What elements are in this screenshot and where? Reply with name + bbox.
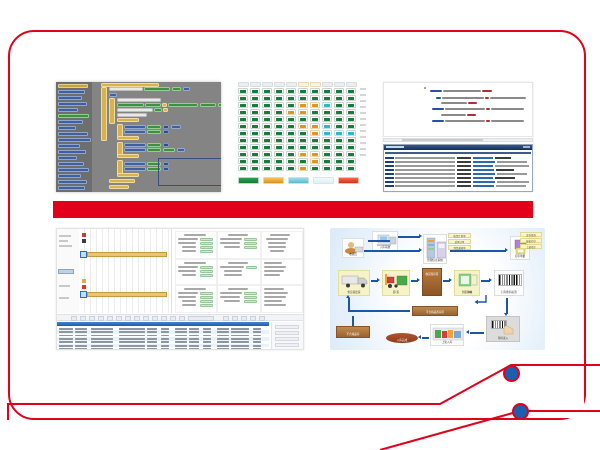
status-grid-cells[interactable] — [238, 88, 366, 172]
status-cell[interactable] — [238, 144, 248, 150]
status-cell[interactable] — [346, 151, 356, 157]
status-cell[interactable] — [310, 165, 320, 171]
flow-node-unload[interactable]: 卸 货 — [382, 270, 410, 296]
flow-node-return-supplier[interactable]: 不合格品库 — [336, 326, 370, 338]
flow-arrow — [398, 236, 420, 238]
flow-node-label: 打印条码标签 — [495, 292, 523, 295]
status-cell[interactable] — [250, 158, 260, 164]
status-cell[interactable] — [286, 165, 296, 171]
panel-status-grid[interactable] — [238, 82, 366, 192]
toolbar-button[interactable] — [89, 316, 95, 321]
block-logic[interactable] — [147, 125, 161, 129]
status-cell[interactable] — [334, 109, 344, 115]
blocks-palette[interactable] — [56, 82, 93, 192]
block-variable[interactable] — [124, 143, 146, 147]
status-cell[interactable] — [334, 88, 344, 94]
status-cell[interactable] — [250, 130, 260, 136]
flow-decision-ng — [470, 294, 490, 308]
panel-blocks-editor[interactable] — [56, 82, 221, 192]
toolbar-button[interactable] — [134, 316, 140, 321]
status-cell[interactable] — [286, 137, 296, 143]
status-cell[interactable] — [310, 151, 320, 157]
status-cell-bar — [276, 97, 282, 100]
code-text-area[interactable] — [383, 82, 533, 137]
status-cell[interactable] — [274, 88, 284, 94]
status-cell[interactable] — [274, 144, 284, 150]
palette-chip[interactable] — [58, 84, 88, 88]
status-cell[interactable] — [238, 158, 248, 164]
legend-item-alarm — [338, 177, 359, 184]
toolbar-button[interactable] — [107, 316, 113, 321]
gantt-bar[interactable] — [87, 292, 167, 297]
status-cell[interactable] — [298, 137, 308, 143]
block-control[interactable] — [163, 108, 168, 112]
toolbar-search-field[interactable] — [188, 316, 214, 321]
status-cell-bar — [288, 153, 294, 156]
code-horizontal-scrollbar[interactable] — [383, 138, 533, 142]
table-cell — [175, 345, 187, 347]
palette-chip[interactable] — [58, 138, 91, 142]
status-cell[interactable] — [286, 109, 296, 115]
status-cell[interactable] — [322, 158, 332, 164]
status-cell[interactable] — [262, 165, 272, 171]
table-cell — [147, 335, 157, 337]
toolbar-button[interactable] — [125, 316, 131, 321]
block-logic[interactable] — [145, 103, 161, 107]
gantt-row-label — [59, 297, 69, 299]
status-cell[interactable] — [346, 158, 356, 164]
status-cell[interactable] — [322, 88, 332, 94]
block-logic[interactable] — [147, 130, 161, 134]
status-cell[interactable] — [322, 95, 332, 101]
status-cell[interactable] — [310, 158, 320, 164]
status-cell[interactable] — [322, 123, 332, 129]
block-logic[interactable] — [172, 87, 181, 91]
status-cell[interactable] — [262, 137, 272, 143]
table-side-panel[interactable] — [271, 322, 304, 350]
data-table[interactable] — [57, 322, 303, 350]
status-cell-bar — [300, 139, 306, 142]
status-cell-bar — [276, 160, 282, 163]
block-variable[interactable] — [163, 143, 169, 147]
toolbar-button[interactable] — [179, 316, 185, 321]
status-cell[interactable] — [286, 95, 296, 101]
status-cell[interactable] — [262, 102, 272, 108]
status-cell[interactable] — [298, 151, 308, 157]
block-variable[interactable] — [163, 130, 169, 134]
flow-node-label: 供应商送货 — [339, 292, 369, 295]
toolbar-button[interactable] — [161, 316, 167, 321]
status-cell[interactable] — [346, 144, 356, 150]
status-cell[interactable] — [310, 144, 320, 150]
status-cell-bar — [288, 97, 294, 100]
table-cell — [217, 335, 229, 337]
status-cell[interactable] — [310, 116, 320, 122]
status-cell[interactable] — [334, 116, 344, 122]
status-cell[interactable] — [322, 165, 332, 171]
block-variable[interactable] — [177, 148, 185, 152]
status-cell[interactable] — [334, 130, 344, 136]
status-cell[interactable] — [334, 151, 344, 157]
palette-chip[interactable] — [58, 180, 87, 184]
palette-chip[interactable] — [58, 114, 89, 118]
palette-chip[interactable] — [58, 150, 86, 154]
status-cell-bar — [264, 104, 270, 107]
status-cell[interactable] — [286, 123, 296, 129]
status-cell[interactable] — [298, 144, 308, 150]
status-cell[interactable] — [274, 116, 284, 122]
block-logic[interactable] — [147, 148, 161, 152]
status-cell[interactable] — [334, 144, 344, 150]
status-cell[interactable] — [238, 123, 248, 129]
status-cell-bar — [276, 167, 282, 170]
status-cell[interactable] — [310, 95, 320, 101]
gantt-group-tag[interactable] — [58, 269, 74, 274]
status-cell[interactable] — [346, 116, 356, 122]
status-cell[interactable] — [262, 123, 272, 129]
palette-chip[interactable] — [58, 168, 89, 172]
status-cell[interactable] — [298, 116, 308, 122]
status-cell-bar — [300, 90, 306, 93]
flow-arrow-head — [504, 313, 508, 316]
block-event-spine[interactable] — [101, 87, 107, 141]
status-cell[interactable] — [250, 151, 260, 157]
status-cell[interactable] — [238, 165, 248, 171]
table-cell — [175, 348, 187, 350]
gantt-detail-cards — [173, 229, 303, 313]
status-cell[interactable] — [262, 116, 272, 122]
toolbar-button[interactable] — [71, 316, 77, 321]
palette-chip[interactable] — [58, 132, 88, 136]
table-cell — [203, 348, 211, 350]
table-cell — [217, 348, 229, 350]
toolbar-button[interactable] — [98, 316, 104, 321]
status-cell[interactable] — [238, 102, 248, 108]
console-row-selected[interactable] — [385, 152, 531, 154]
block-variable[interactable] — [124, 167, 146, 171]
flow-node-scan-label[interactable]: 条码录入 — [486, 316, 520, 342]
table-cell — [217, 328, 229, 330]
status-cell[interactable] — [250, 137, 260, 143]
table-row[interactable] — [57, 347, 269, 350]
status-cell[interactable] — [322, 116, 332, 122]
status-cell[interactable] — [346, 102, 356, 108]
detail-card — [261, 285, 303, 313]
block-variable[interactable] — [163, 125, 169, 129]
block-control[interactable] — [109, 185, 129, 189]
status-cell[interactable] — [298, 123, 308, 129]
gantt-timeline-track[interactable] — [79, 229, 172, 313]
flow-node-wms-server[interactable]: 管理信息系统 — [423, 234, 447, 264]
status-cell[interactable] — [322, 130, 332, 136]
table-cell — [59, 338, 73, 340]
status-cell[interactable] — [334, 123, 344, 129]
grid-column-header — [238, 82, 249, 87]
toolbar-button[interactable] — [80, 316, 86, 321]
status-cell[interactable] — [310, 88, 320, 94]
status-cell[interactable] — [274, 158, 284, 164]
block-logic[interactable] — [147, 143, 161, 147]
side-button[interactable] — [275, 325, 299, 329]
block-logic[interactable] — [163, 148, 175, 152]
status-cell[interactable] — [238, 151, 248, 157]
grid-column-header — [286, 82, 297, 87]
palette-chip[interactable] — [58, 156, 77, 160]
code-token — [490, 97, 526, 99]
block-control[interactable] — [117, 173, 139, 177]
status-cell[interactable] — [274, 151, 284, 157]
status-cell[interactable] — [238, 95, 248, 101]
block-control[interactable] — [109, 179, 135, 183]
status-cell[interactable] — [346, 165, 356, 171]
status-cell[interactable] — [250, 88, 260, 94]
status-cell[interactable] — [250, 123, 260, 129]
block-variable[interactable] — [109, 93, 117, 97]
panel-gantt-table[interactable] — [56, 228, 304, 350]
status-cell[interactable] — [334, 158, 344, 164]
block-control[interactable] — [117, 136, 139, 140]
block-text[interactable] — [117, 108, 153, 112]
status-cell[interactable] — [322, 151, 332, 157]
status-cell[interactable] — [274, 165, 284, 171]
decorative-zigzag-line — [0, 0, 600, 450]
status-cell[interactable] — [298, 130, 308, 136]
detail-card — [175, 285, 217, 313]
status-cell[interactable] — [286, 130, 296, 136]
status-cell[interactable] — [346, 137, 356, 143]
status-cell[interactable] — [310, 130, 320, 136]
palette-chip[interactable] — [58, 96, 82, 100]
palette-chip[interactable] — [58, 108, 78, 112]
block-variable[interactable] — [124, 125, 146, 129]
status-cell[interactable] — [322, 102, 332, 108]
flow-node-putaway[interactable]: 上架入库 — [430, 324, 464, 346]
status-cell[interactable] — [238, 88, 248, 94]
status-cell[interactable] — [298, 165, 308, 171]
status-cell[interactable] — [298, 88, 308, 94]
status-cell-bar — [264, 111, 270, 114]
status-cell-bar — [312, 139, 318, 142]
status-cell[interactable] — [310, 102, 320, 108]
status-cell[interactable] — [298, 102, 308, 108]
toolbar-button[interactable] — [250, 316, 256, 321]
status-cell[interactable] — [346, 130, 356, 136]
status-cell[interactable] — [250, 102, 260, 108]
block-logic[interactable] — [218, 103, 221, 107]
status-cell[interactable] — [334, 95, 344, 101]
palette-chip[interactable] — [58, 102, 87, 106]
grid-column-header — [322, 82, 333, 87]
status-cell[interactable] — [262, 151, 272, 157]
status-cell[interactable] — [238, 137, 248, 143]
block-logic[interactable] — [154, 108, 162, 112]
flow-node-quality-check[interactable]: 到货验收 — [454, 270, 480, 296]
status-cell[interactable] — [262, 88, 272, 94]
flow-node-label: 卸 货 — [383, 292, 409, 295]
status-cell[interactable] — [334, 137, 344, 143]
toolbar-button[interactable] — [232, 316, 238, 321]
status-cell[interactable] — [310, 137, 320, 143]
status-cell[interactable] — [238, 116, 248, 122]
toolbar-button[interactable] — [116, 316, 122, 321]
gantt-milestone-flag[interactable] — [82, 239, 86, 243]
side-button[interactable] — [275, 337, 299, 341]
status-cell[interactable] — [250, 144, 260, 150]
palette-chip[interactable] — [58, 162, 84, 166]
block-control[interactable] — [162, 103, 167, 107]
block-control[interactable] — [117, 154, 139, 158]
palette-chip[interactable] — [58, 144, 80, 148]
status-cell[interactable] — [310, 109, 320, 115]
block-control[interactable] — [117, 118, 139, 122]
block-variable[interactable] — [124, 162, 146, 166]
toolbar-button[interactable] — [259, 316, 265, 321]
status-cell[interactable] — [322, 137, 332, 143]
side-button[interactable] — [275, 331, 299, 335]
status-cell-bar — [300, 167, 306, 170]
status-cell-bar — [276, 146, 282, 149]
table-cell — [59, 328, 73, 330]
status-cell[interactable] — [250, 165, 260, 171]
status-cell[interactable] — [262, 130, 272, 136]
block-text[interactable] — [117, 113, 147, 117]
gantt-bar[interactable] — [87, 252, 167, 257]
status-cell[interactable] — [298, 109, 308, 115]
block-variable[interactable] — [183, 87, 190, 91]
code-token — [432, 108, 444, 110]
flow-decision-label: NG — [468, 291, 472, 294]
block-logic[interactable] — [117, 103, 144, 107]
toolbar-button[interactable] — [170, 316, 176, 321]
status-cell-bar — [324, 146, 330, 149]
panel-logistics-flowchart[interactable]: 收货员 入库系统 管理信息系统 收货计划单 采购订单 到货通 — [330, 228, 545, 350]
gantt-milestone-flag[interactable] — [82, 233, 86, 237]
status-cell[interactable] — [346, 123, 356, 129]
status-cell[interactable] — [274, 102, 284, 108]
status-cell[interactable] — [298, 158, 308, 164]
status-cell-bar — [288, 160, 294, 163]
gantt-milestone-flag[interactable] — [82, 285, 86, 289]
status-cell[interactable] — [262, 95, 272, 101]
status-cell[interactable] — [286, 144, 296, 150]
legend-item-warning — [263, 177, 284, 184]
block-variable[interactable] — [124, 148, 146, 152]
palette-chip[interactable] — [58, 174, 81, 178]
panel-code-editor[interactable] — [383, 82, 533, 192]
status-cell[interactable] — [238, 130, 248, 136]
gantt-milestone-flag[interactable] — [82, 279, 86, 283]
flow-node-inbound-done[interactable]: 入库完成 — [386, 333, 418, 343]
block-variable[interactable] — [124, 130, 146, 134]
table-toolbar[interactable] — [57, 314, 303, 321]
block-text[interactable] — [109, 87, 143, 91]
status-cell[interactable] — [298, 95, 308, 101]
status-cell[interactable] — [262, 144, 272, 150]
status-cell[interactable] — [274, 130, 284, 136]
status-cell-bar — [288, 104, 294, 107]
code-token — [424, 87, 426, 89]
status-cell-bar — [276, 125, 282, 128]
code-token — [441, 114, 466, 116]
block-variable[interactable] — [171, 125, 181, 129]
status-cell[interactable] — [262, 158, 272, 164]
table-cell — [189, 348, 199, 350]
flow-node-supplier-delivery[interactable]: 供应商送货 — [338, 270, 370, 296]
gantt-task-node[interactable] — [80, 251, 87, 258]
palette-chip[interactable] — [58, 126, 76, 130]
table-cell — [91, 338, 113, 340]
status-cell[interactable] — [274, 95, 284, 101]
toolbar-button[interactable] — [143, 316, 149, 321]
table-cell — [161, 348, 169, 350]
status-cell[interactable] — [286, 102, 296, 108]
status-cell[interactable] — [262, 109, 272, 115]
block-logic[interactable] — [200, 103, 216, 107]
status-cell-bar — [240, 90, 246, 93]
status-cell[interactable] — [346, 109, 356, 115]
status-cell[interactable] — [346, 88, 356, 94]
status-cell[interactable] — [334, 102, 344, 108]
status-cell[interactable] — [274, 123, 284, 129]
detail-card — [175, 231, 217, 259]
status-cell[interactable] — [286, 88, 296, 94]
status-cell[interactable] — [334, 165, 344, 171]
status-cell[interactable] — [322, 144, 332, 150]
block-logic[interactable] — [168, 103, 198, 107]
palette-chip[interactable] — [58, 90, 85, 94]
block-logic[interactable] — [144, 87, 170, 91]
block-selection-outline — [158, 158, 221, 186]
flow-node-receiving-desk[interactable]: 收货员 — [342, 238, 364, 258]
block-control-spine[interactable] — [109, 98, 115, 124]
status-cell[interactable] — [250, 116, 260, 122]
status-cell-bar — [300, 146, 306, 149]
status-cell[interactable] — [322, 109, 332, 115]
status-cell[interactable] — [274, 137, 284, 143]
toolbar-button[interactable] — [223, 316, 229, 321]
table-cell — [175, 341, 187, 343]
status-cell-bar — [288, 118, 294, 121]
status-cell[interactable] — [274, 109, 284, 115]
toolbar-button[interactable] — [152, 316, 158, 321]
gantt-task-node[interactable] — [80, 291, 87, 298]
toolbar-button[interactable] — [241, 316, 247, 321]
blocks-canvas[interactable] — [92, 82, 221, 192]
status-cell[interactable] — [250, 109, 260, 115]
status-cell[interactable] — [286, 116, 296, 122]
flow-arrow-head — [418, 335, 421, 339]
palette-chip[interactable] — [58, 120, 83, 124]
status-cell[interactable] — [346, 95, 356, 101]
output-console-window[interactable] — [383, 144, 533, 192]
status-cell[interactable] — [238, 109, 248, 115]
status-cell[interactable] — [250, 95, 260, 101]
flow-node-reject-zone[interactable]: 不合格品暂存区 — [412, 306, 458, 316]
side-button[interactable] — [275, 343, 299, 347]
status-cell-bar — [240, 104, 246, 107]
table-cell — [59, 348, 73, 350]
table-cell — [161, 331, 169, 333]
decorative-dot-upper — [503, 365, 520, 382]
status-cell[interactable] — [310, 123, 320, 129]
status-cell[interactable] — [286, 158, 296, 164]
flow-node-barcode-label[interactable]: 打印条码标签 — [494, 270, 524, 296]
block-text[interactable] — [117, 98, 161, 102]
status-cell-bar — [252, 111, 258, 114]
palette-chip[interactable] — [58, 186, 85, 190]
status-cell[interactable] — [286, 151, 296, 157]
flow-node-goods-stage[interactable]: 收货暂存区 — [422, 268, 442, 296]
